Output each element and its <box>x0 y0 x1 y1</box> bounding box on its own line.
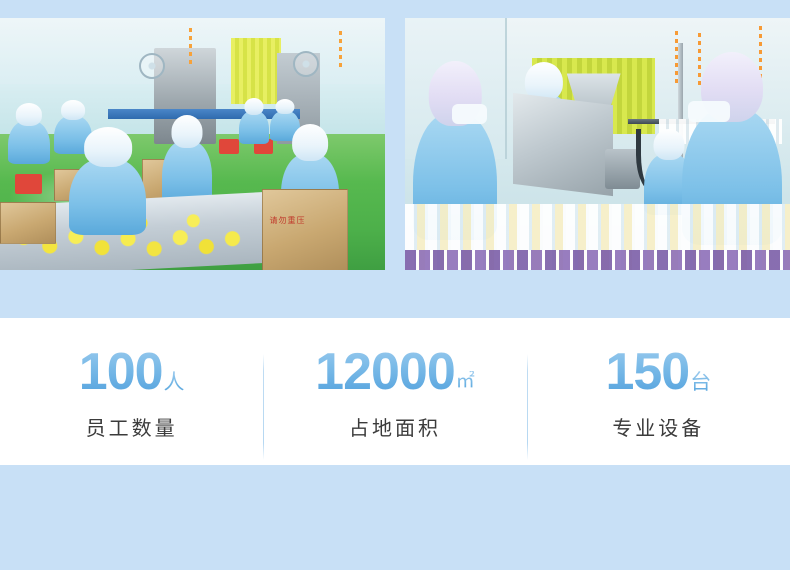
stat-label-employees: 员工数量 <box>0 412 263 441</box>
purple-bottle-labels <box>405 250 790 270</box>
stat-label-floor-area: 占地面积 <box>263 412 526 441</box>
hood-cap <box>292 124 328 161</box>
stat-unit-employees: 人 <box>164 371 185 394</box>
carton-warning-text: 请勿重压 <box>270 215 306 226</box>
packing-line-scene: 请勿重压 <box>0 18 385 270</box>
photo-gallery: 请勿重压 <box>0 0 790 318</box>
hood-cap <box>653 129 684 160</box>
company-strength-banner: 请勿重压 <box>0 0 790 570</box>
hood-cap <box>16 103 42 125</box>
factory-filling-machine-photo[interactable] <box>405 18 790 270</box>
factory-packing-line-photo[interactable]: 请勿重压 <box>0 18 385 270</box>
hood-cap <box>84 127 132 166</box>
stat-item-floor-area: 12000㎡ 占地面积 <box>263 342 526 441</box>
stat-value-equipment: 150台 <box>527 346 790 398</box>
stat-number-floor-area: 12000 <box>315 343 455 401</box>
worker-figure <box>69 159 146 235</box>
hood-cap <box>275 99 294 115</box>
hood-cap <box>245 98 264 115</box>
red-stool <box>15 174 42 194</box>
stat-value-employees: 100人 <box>0 346 263 398</box>
stat-label-equipment: 专业设备 <box>527 412 790 441</box>
orange-cord <box>189 28 192 68</box>
hood-cap <box>171 115 202 148</box>
yellow-strip-curtain <box>231 38 281 104</box>
orange-cord <box>675 31 678 86</box>
face-mask <box>688 101 730 123</box>
orange-cord <box>339 31 342 71</box>
machine-motor <box>605 149 640 189</box>
face-mask <box>452 104 488 124</box>
stat-item-employees: 100人 员工数量 <box>0 342 263 441</box>
red-stool <box>219 139 238 154</box>
wall-fan-icon <box>293 51 319 77</box>
wall-fan-icon <box>139 53 165 79</box>
stainless-filling-machine <box>513 92 613 195</box>
filling-line-scene <box>405 18 790 270</box>
worker-figure <box>239 111 270 144</box>
hood-cap <box>61 100 85 120</box>
cardboard-carton <box>0 202 56 244</box>
stat-unit-floor-area: ㎡ <box>456 371 475 392</box>
orange-cord <box>698 33 701 88</box>
stat-unit-equipment: 台 <box>690 371 711 394</box>
stat-number-employees: 100 <box>79 343 163 401</box>
company-stats-strip: 100人 员工数量 12000㎡ 占地面积 150台 专业设备 <box>0 318 790 465</box>
bottom-blue-band <box>0 465 790 570</box>
stat-number-equipment: 150 <box>605 343 689 401</box>
stat-item-equipment: 150台 专业设备 <box>527 342 790 441</box>
stat-value-floor-area: 12000㎡ <box>263 346 526 398</box>
cardboard-carton <box>262 189 349 270</box>
worker-figure <box>8 121 50 164</box>
